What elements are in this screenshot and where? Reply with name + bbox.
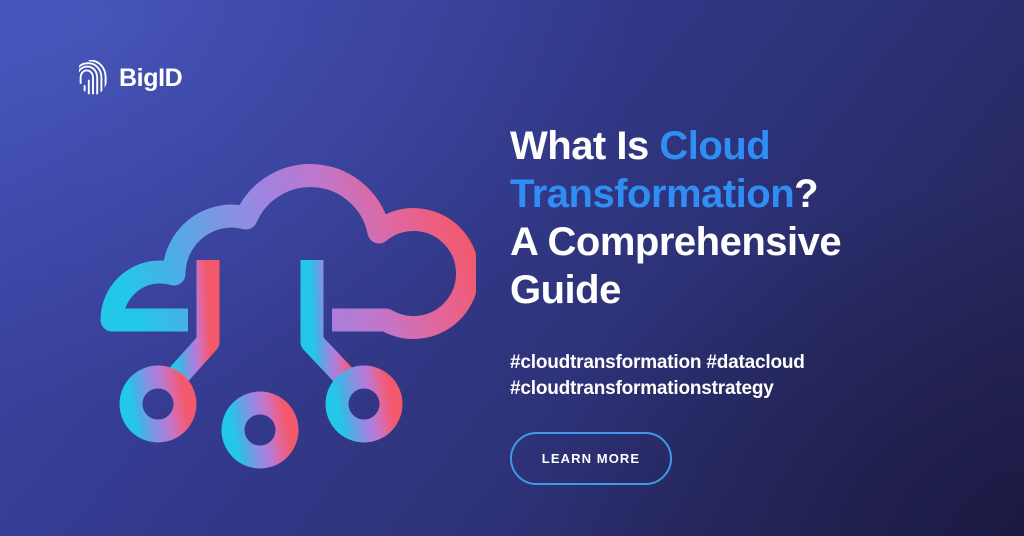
headline-part-guide: Guide bbox=[510, 268, 621, 312]
learn-more-button[interactable]: LEARN MORE bbox=[510, 432, 672, 485]
hashtag-list: #cloudtransformation #datacloud #cloudtr… bbox=[510, 350, 950, 402]
headline-part-question: ? bbox=[794, 172, 818, 216]
headline-part-what-is: What Is bbox=[510, 124, 659, 168]
page-title: What Is CloudTransformation?A Comprehens… bbox=[510, 122, 950, 314]
headline-part-comprehensive: A Comprehensive bbox=[510, 220, 841, 264]
hashtag-line-2: #cloudtransformationstrategy bbox=[510, 376, 950, 402]
banner-content: What Is CloudTransformation?A Comprehens… bbox=[510, 122, 950, 485]
hashtag-line-1: #cloudtransformation #datacloud bbox=[510, 350, 950, 376]
headline-part-transformation: Transformation bbox=[510, 172, 794, 216]
fingerprint-shield-icon bbox=[76, 59, 110, 97]
cloud-network-nodes-icon bbox=[96, 112, 476, 492]
headline-part-cloud: Cloud bbox=[659, 124, 770, 168]
bigid-logo[interactable]: BigID bbox=[76, 59, 182, 97]
bigid-wordmark: BigID bbox=[119, 66, 182, 91]
promo-banner: BigID bbox=[0, 0, 1024, 536]
